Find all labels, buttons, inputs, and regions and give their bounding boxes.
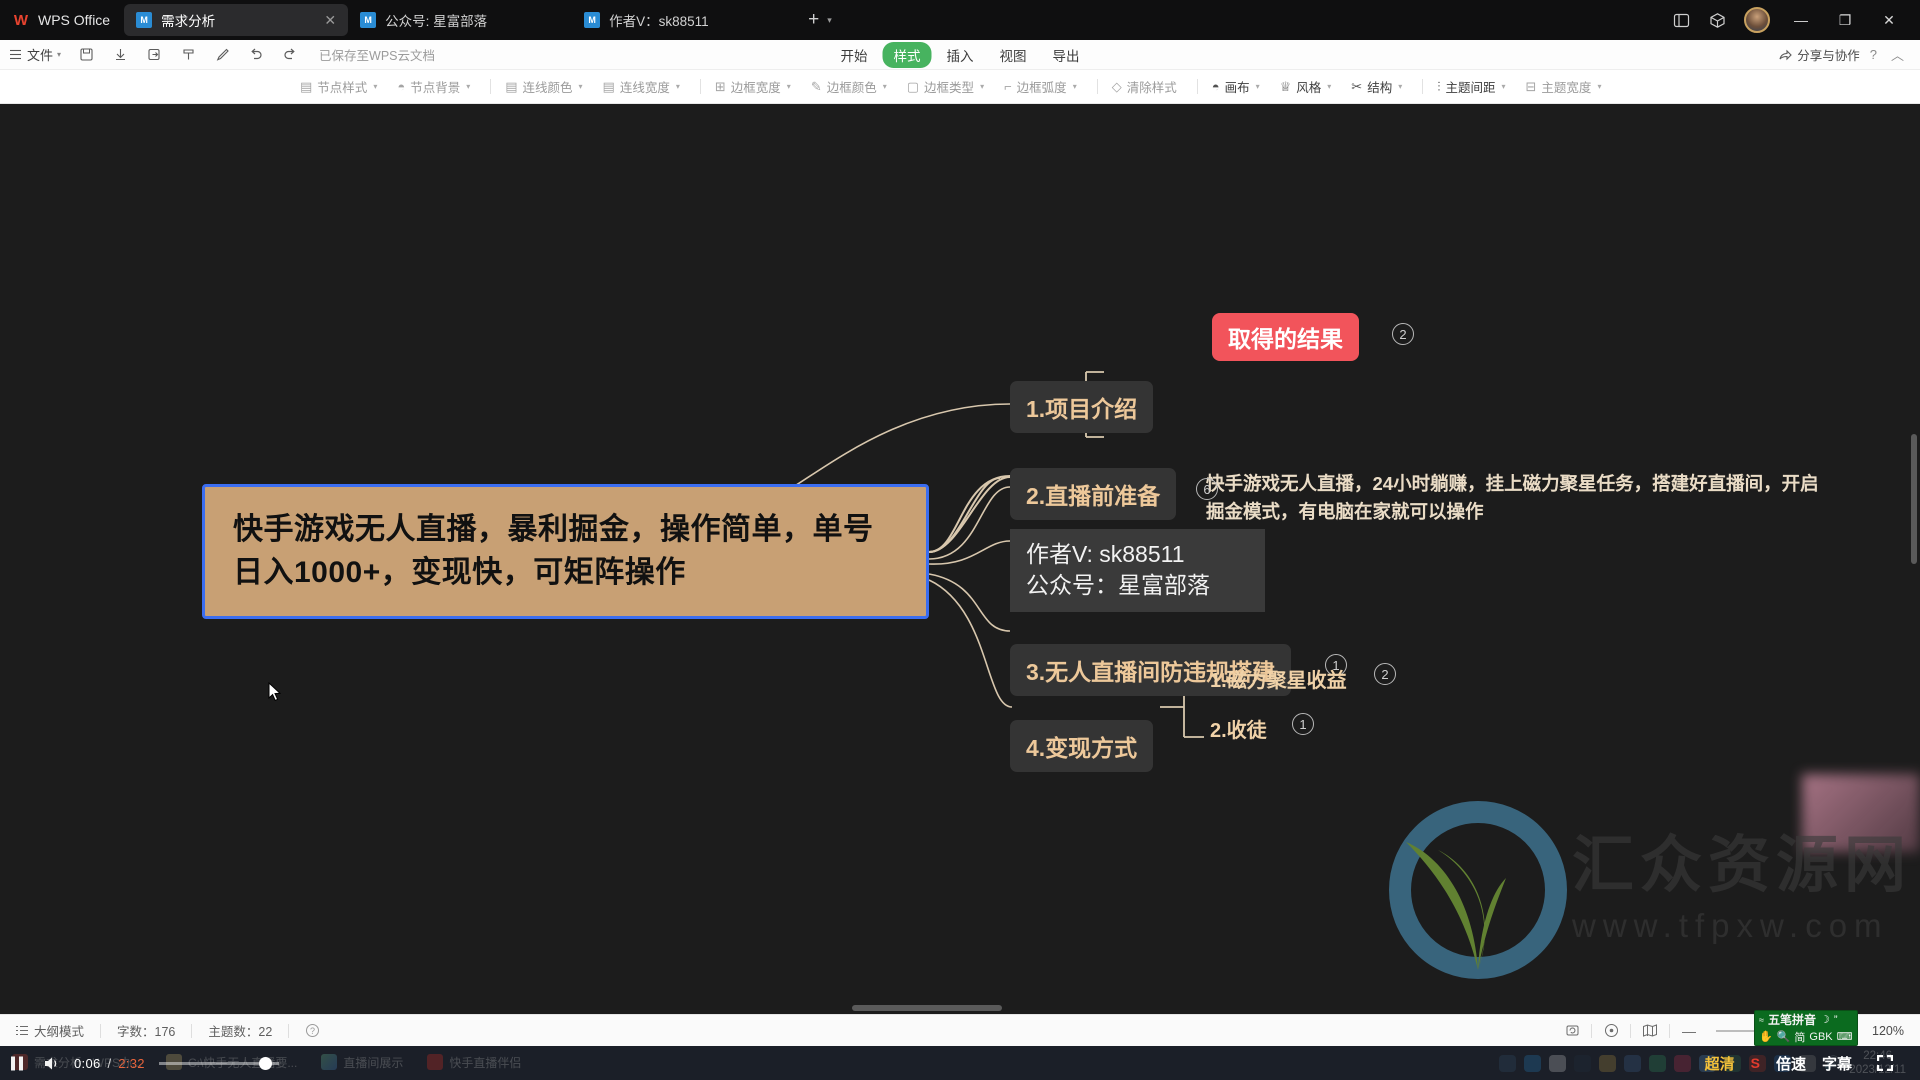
node-style-icon: ▤ <box>300 79 312 95</box>
menu-item-start[interactable]: 开始 <box>830 42 879 68</box>
ribbon-theme-width[interactable]: ⊟ 主题宽度 ▾ <box>1526 77 1602 96</box>
mindmap-root-node[interactable]: 快手游戏无人直播，暴利掘金，操作简单，单号日入1000+，变现快，可矩阵操作 <box>202 484 929 619</box>
svg-text:?: ? <box>310 1026 315 1036</box>
outline-mode-button[interactable]: 大纲模式 <box>0 1021 100 1040</box>
avatar[interactable] <box>1744 7 1770 33</box>
print-icon[interactable] <box>174 42 202 68</box>
leaf-logo-icon <box>1378 790 1578 990</box>
ribbon-canvas[interactable]: ◓ 画布 ▾ <box>1212 77 1260 96</box>
title-bar-actions: — ❐ ✕ <box>1664 0 1920 40</box>
player-brand-icon: S <box>1751 1055 1760 1071</box>
undo-icon[interactable] <box>242 42 270 68</box>
title-bar: W WPS Office M 需求分析 ✕ M 公众号: 星富部落 M 作者V：… <box>0 0 1920 40</box>
menu-item-view[interactable]: 视图 <box>989 42 1038 68</box>
chevron-down-icon: ▾ <box>787 82 791 91</box>
ribbon-label: 边框宽度 <box>731 77 781 96</box>
status-bar-right: — + 120% <box>1557 1023 1920 1039</box>
line-color-icon: ▤ <box>505 79 517 95</box>
watermark-title: 汇众资源网 <box>1572 835 1912 897</box>
keyboard-icon[interactable]: ⌨ <box>1837 1030 1853 1043</box>
theme-spacing-icon: ⫶ <box>1437 79 1440 95</box>
hamburger-icon <box>10 49 23 60</box>
document-icon: M <box>136 12 152 28</box>
mindmap-canvas[interactable]: 快手游戏无人直播，暴利掘金，操作简单，单号日入1000+，变现快，可矩阵操作 1… <box>0 104 1920 1014</box>
border-radius-icon: ⌐ <box>1004 79 1012 94</box>
menu-bar: 文件 ▾ 已保存至WPS云文档 开始 样式 插入 视图 导出 分享与协作 ? <box>0 40 1920 70</box>
current-time: 0:06 <box>74 1056 101 1071</box>
status-divider <box>1630 1024 1631 1038</box>
watermark-url: www.tfpxw.com <box>1572 907 1912 945</box>
chevron-down-icon[interactable]: ▾ <box>827 15 832 26</box>
volume-slider[interactable] <box>159 1062 279 1065</box>
ribbon-divider <box>1197 79 1198 94</box>
ribbon-label: 清除样式 <box>1127 77 1177 96</box>
style-shirt-icon: ♕ <box>1280 79 1292 95</box>
file-menu-label: 文件 <box>27 45 53 64</box>
ribbon-style[interactable]: ♕ 风格 ▾ <box>1280 77 1332 96</box>
status-bar: 大纲模式 字数：176 主题数：22 ? — + 120% <box>0 1014 1920 1046</box>
monetize-child-1-badge: 2 <box>1374 663 1396 685</box>
save-status: 已保存至WPS云文档 <box>319 45 435 64</box>
tab-document-3[interactable]: M 作者V：sk88511 <box>572 4 796 36</box>
ime-quote-icon: ” <box>1834 1014 1838 1026</box>
canvas-icon: ◓ <box>1212 79 1220 94</box>
ribbon-line-width[interactable]: ▤ 连线宽度 ▾ <box>603 77 680 96</box>
total-duration: 2:32 <box>118 1056 145 1071</box>
ime-caret-icon: ≈ <box>1759 1015 1764 1025</box>
mindmap-monetize-child-1[interactable]: 1.磁力聚星收益 <box>1210 664 1347 693</box>
chevron-down-icon: ▾ <box>1597 82 1601 91</box>
ribbon-node-background[interactable]: ◓ 节点背景 ▾ <box>397 77 470 96</box>
save-icon[interactable] <box>72 42 100 68</box>
fill-bucket-icon: ◓ <box>397 79 405 94</box>
hand-icon[interactable]: ✋ <box>1759 1030 1773 1043</box>
ribbon-label: 结构 <box>1367 77 1392 96</box>
main-menu: 开始 样式 插入 视图 导出 <box>830 42 1091 68</box>
pen-icon[interactable] <box>208 42 236 68</box>
volume-button[interactable] <box>34 1055 68 1072</box>
redo-icon[interactable] <box>276 42 304 68</box>
ribbon-divider <box>700 79 701 94</box>
playback-time: 0:06 / 2:32 <box>74 1056 145 1071</box>
structure-icon: ✂ <box>1351 79 1362 95</box>
ribbon-theme-spacing[interactable]: ⫶ 主题间距 ▾ <box>1437 77 1505 96</box>
document-icon: M <box>584 12 600 28</box>
canvas-horizontal-scrollbar[interactable] <box>852 1005 1002 1011</box>
search-icon[interactable]: 🔍 <box>1777 1030 1791 1043</box>
ribbon-border-color[interactable]: ✎ 边框颜色 ▾ <box>811 77 887 96</box>
chevron-down-icon: ▾ <box>1327 82 1331 91</box>
status-divider <box>1669 1024 1670 1038</box>
document-icon: M <box>360 12 376 28</box>
chevron-down-icon: ▾ <box>1073 82 1077 91</box>
chevron-down-icon: ▾ <box>373 82 377 91</box>
mindmap-branch-4[interactable]: 4.变现方式 <box>1010 720 1153 772</box>
cube-icon[interactable] <box>1700 4 1734 36</box>
ime-simplified-label[interactable]: 简 <box>1794 1029 1805 1045</box>
subtitle-button[interactable]: 字幕 <box>1822 1053 1852 1074</box>
chevron-down-icon: ▾ <box>57 50 61 59</box>
app-title: WPS Office <box>38 12 110 28</box>
collapse-ribbon-icon[interactable]: ︿ <box>1887 45 1908 64</box>
menu-item-style[interactable]: 样式 <box>883 42 932 68</box>
maximize-button[interactable]: ❐ <box>1824 0 1866 40</box>
ribbon-label: 节点样式 <box>317 77 367 96</box>
status-divider <box>1591 1024 1592 1038</box>
chevron-down-icon: ▾ <box>883 82 887 91</box>
chevron-down-icon: ▾ <box>1502 82 1506 91</box>
outline-icon <box>16 1025 29 1036</box>
ime-moon-icon: ☽ <box>1820 1013 1830 1026</box>
mindmap-monetize-child-2[interactable]: 2.收徒 <box>1210 714 1267 743</box>
menu-item-export[interactable]: 导出 <box>1042 42 1091 68</box>
mindmap-result-node[interactable]: 取得的结果 <box>1212 313 1359 361</box>
style-ribbon: ▤ 节点样式 ▾ ◓ 节点背景 ▾ ▤ 连线颜色 ▾ ▤ 连线宽度 ▾ ⊞ 边框… <box>0 70 1920 104</box>
share-icon <box>1778 48 1792 62</box>
focus-icon[interactable] <box>1596 1023 1626 1038</box>
chevron-down-icon: ▾ <box>579 82 583 91</box>
ribbon-clear-style[interactable]: ◇ 清除样式 <box>1112 77 1177 96</box>
ribbon-label: 主题间距 <box>1445 77 1495 96</box>
clear-style-icon: ◇ <box>1112 79 1122 95</box>
share-label: 分享与协作 <box>1797 45 1860 64</box>
file-menu-button[interactable]: 文件 ▾ <box>0 45 69 64</box>
pause-button[interactable] <box>0 1055 34 1072</box>
ribbon-divider <box>1097 79 1098 94</box>
tab-strip: M 需求分析 ✕ M 公众号: 星富部落 M 作者V：sk88511 + ▾ <box>124 0 832 40</box>
video-player-bar: 0:06 / 2:32 超清 S 倍速 字幕 <box>0 1046 1920 1080</box>
ribbon-label: 画布 <box>1225 77 1250 96</box>
ime-encoding-label[interactable]: GBK <box>1809 1031 1832 1043</box>
topic-count: 主题数：22 <box>192 1021 288 1040</box>
ribbon-divider <box>490 79 491 94</box>
status-help-icon[interactable]: ? <box>289 1023 336 1038</box>
border-type-icon: ▢ <box>907 79 919 95</box>
mindmap-branch-2[interactable]: 2.直播前准备 <box>1010 468 1176 520</box>
ribbon-label: 连线颜色 <box>523 77 573 96</box>
ribbon-node-style[interactable]: ▤ 节点样式 ▾ <box>300 77 377 96</box>
ribbon-border-width[interactable]: ⊞ 边框宽度 ▾ <box>715 77 791 96</box>
history-icon[interactable] <box>1557 1023 1587 1038</box>
ribbon-label: 风格 <box>1296 77 1321 96</box>
ime-indicator[interactable]: ≈ 五笔拼音 ☽ ” ✋ 🔍 简 GBK ⌨ <box>1754 1010 1858 1046</box>
ribbon-label: 边框弧度 <box>1017 77 1067 96</box>
ribbon-label: 连线宽度 <box>620 77 670 96</box>
word-count: 字数：176 <box>101 1021 191 1040</box>
tab-label: 需求分析 <box>161 10 315 30</box>
mindmap-description[interactable]: 快手游戏无人直播，24小时躺赚，挂上磁力聚星任务，搭建好直播间，开启掘金模式，有… <box>1206 470 1836 526</box>
tab-label: 公众号: 星富部落 <box>385 10 560 30</box>
ime-mode-label: 五笔拼音 <box>1768 1011 1816 1028</box>
quality-button[interactable]: 超清 <box>1705 1053 1735 1074</box>
volume-slider-knob[interactable] <box>259 1057 272 1070</box>
tab-document-2[interactable]: M 公众号: 星富部落 <box>348 4 572 36</box>
mouse-cursor-icon <box>268 682 282 702</box>
chevron-down-icon: ▾ <box>466 82 470 91</box>
new-tab-button[interactable]: + <box>802 9 825 31</box>
ime-bottom-row: ✋ 🔍 简 GBK ⌨ <box>1755 1028 1857 1045</box>
minimize-button[interactable]: — <box>1780 0 1822 40</box>
fullscreen-button[interactable] <box>1868 1054 1902 1072</box>
map-icon[interactable] <box>1635 1023 1665 1038</box>
line-width-icon: ▤ <box>603 79 615 95</box>
mindmap-author-node[interactable]: 作者V: sk88511 公众号：星富部落 <box>1010 529 1265 612</box>
ribbon-label: 边框类型 <box>924 77 974 96</box>
border-width-icon: ⊞ <box>715 79 726 95</box>
chevron-down-icon: ▾ <box>980 82 984 91</box>
menu-bar-actions: 分享与协作 ? ︿ <box>1778 45 1920 64</box>
ribbon-border-radius[interactable]: ⌐ 边框弧度 ▾ <box>1004 77 1077 96</box>
zoom-out-button[interactable]: — <box>1674 1023 1704 1039</box>
monetize-child-2-badge: 1 <box>1292 713 1314 735</box>
export-icon[interactable] <box>140 42 168 68</box>
author-line-2: 公众号：星富部落 <box>1026 570 1249 601</box>
download-icon[interactable] <box>106 42 134 68</box>
zoom-level: 120% <box>1862 1024 1904 1038</box>
chevron-down-icon: ▾ <box>1256 82 1260 91</box>
ime-top-row: ≈ 五笔拼音 ☽ ” <box>1755 1011 1857 1028</box>
tab-document-1[interactable]: M 需求分析 ✕ <box>124 4 348 36</box>
chevron-down-icon: ▾ <box>676 82 680 91</box>
watermark: 汇众资源网 www.tfpxw.com <box>1378 790 1912 990</box>
theme-width-icon: ⊟ <box>1526 79 1537 95</box>
time-separator: / <box>107 1056 111 1071</box>
result-node-badge: 2 <box>1392 323 1414 345</box>
ribbon-label: 边框颜色 <box>827 77 877 96</box>
tab-close-icon[interactable]: ✕ <box>324 12 336 29</box>
outline-mode-label: 大纲模式 <box>34 1021 84 1040</box>
author-line-1: 作者V: sk88511 <box>1026 539 1249 570</box>
branch-2-badge: 6 <box>1196 478 1218 500</box>
ribbon-divider <box>1422 79 1423 94</box>
ribbon-structure[interactable]: ✂ 结构 ▾ <box>1351 77 1402 96</box>
app-brand: W WPS Office <box>0 0 124 40</box>
help-icon[interactable]: ? <box>1866 47 1881 62</box>
ribbon-line-color[interactable]: ▤ 连线颜色 ▾ <box>505 77 582 96</box>
speed-button[interactable]: 倍速 <box>1776 1053 1806 1074</box>
player-right-controls: 超清 S 倍速 字幕 <box>1705 1053 1920 1074</box>
wps-logo-icon: W <box>12 11 30 29</box>
menu-item-insert[interactable]: 插入 <box>936 42 985 68</box>
watermark-text: 汇众资源网 www.tfpxw.com <box>1572 835 1912 945</box>
panel-icon[interactable] <box>1664 4 1698 36</box>
ribbon-border-type[interactable]: ▢ 边框类型 ▾ <box>907 77 984 96</box>
border-color-icon: ✎ <box>811 79 822 95</box>
tab-label: 作者V：sk88511 <box>609 10 784 30</box>
mindmap-branch-1[interactable]: 1.项目介绍 <box>1010 381 1153 433</box>
close-button[interactable]: ✕ <box>1868 0 1910 40</box>
ribbon-label: 主题宽度 <box>1541 77 1591 96</box>
chevron-down-icon: ▾ <box>1398 82 1402 91</box>
ribbon-label: 节点背景 <box>410 77 460 96</box>
canvas-vertical-scrollbar[interactable] <box>1911 434 1917 564</box>
share-button[interactable]: 分享与协作 <box>1778 45 1860 64</box>
